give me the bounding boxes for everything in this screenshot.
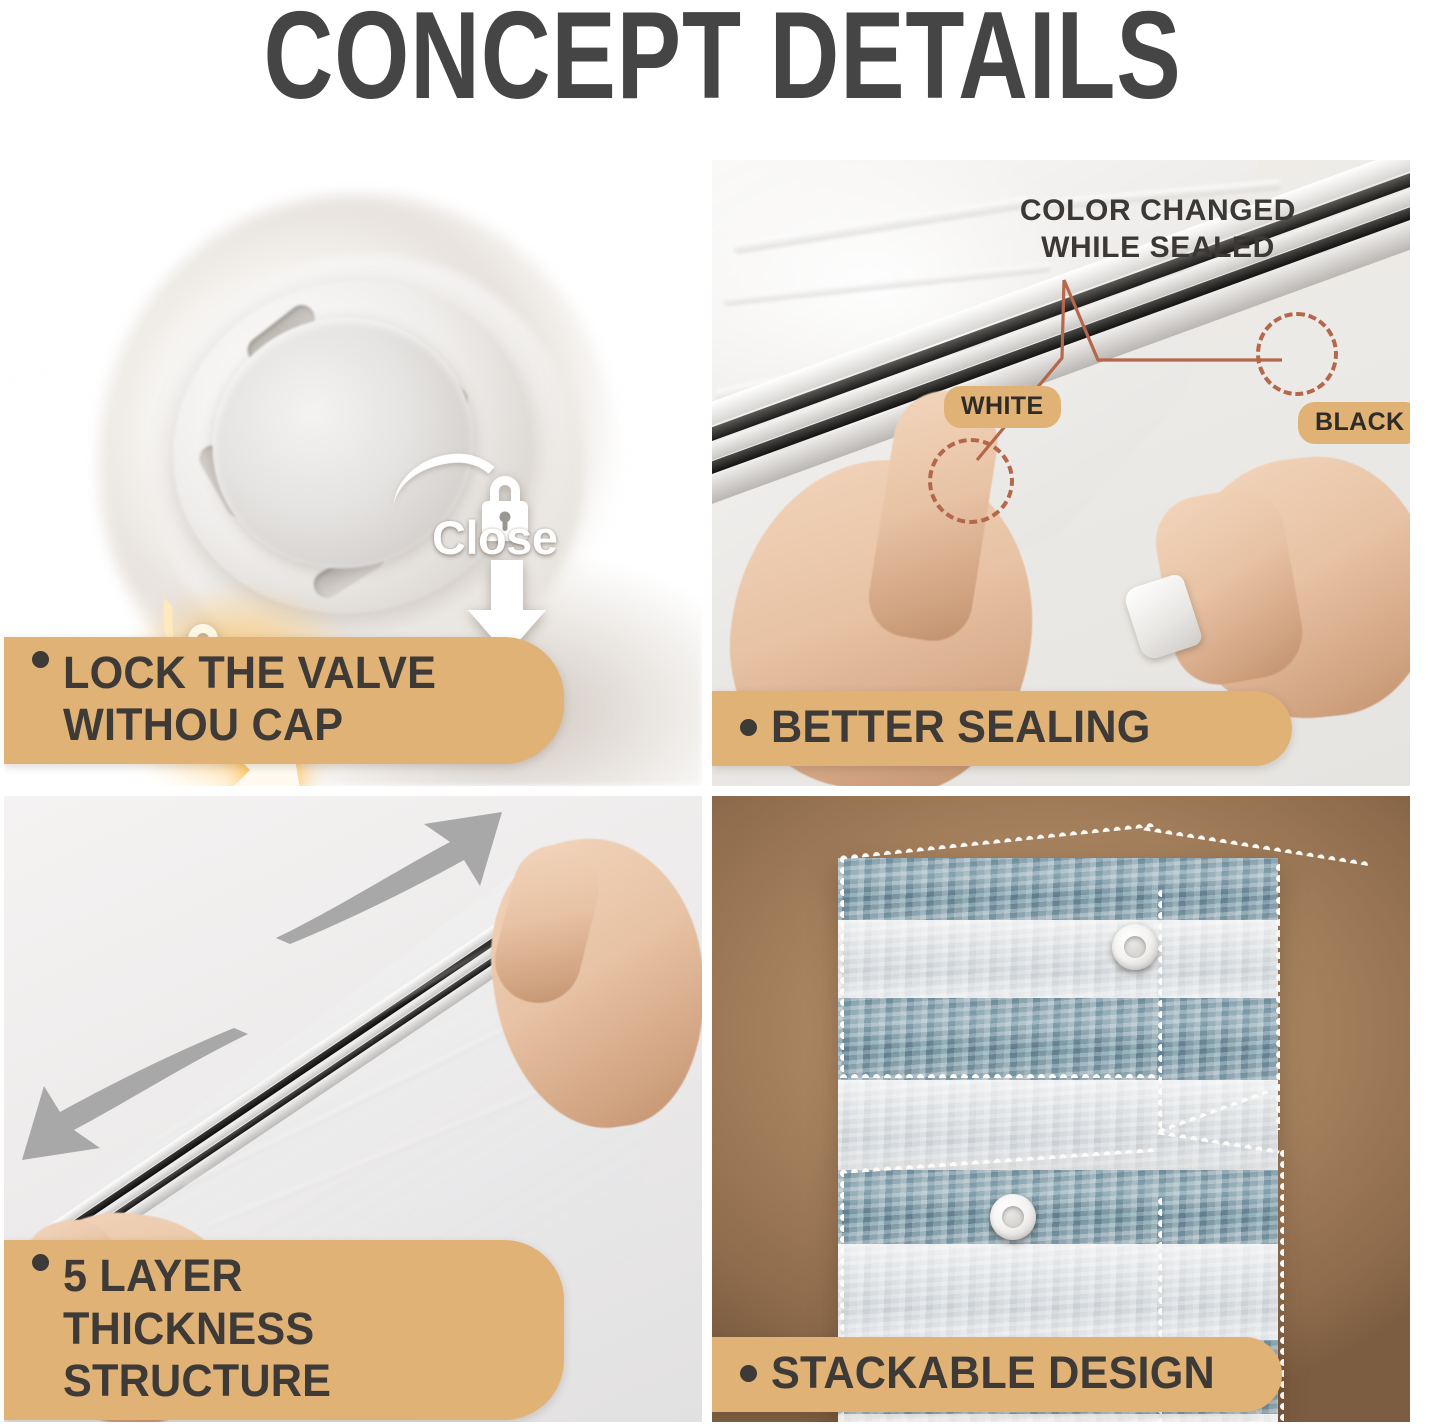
caption-text: 5 LAYER THICKNESS STRUCTURE bbox=[63, 1250, 498, 1408]
label-white: WHITE bbox=[944, 386, 1061, 428]
caption-text: BETTER SEALING bbox=[771, 701, 1151, 754]
bullet-dot bbox=[32, 651, 49, 668]
label-black: BLACK bbox=[1298, 402, 1410, 444]
content-band bbox=[838, 1244, 1278, 1340]
panel-stackable: STACKABLE DESIGN bbox=[712, 796, 1410, 1422]
arrow-down-left-icon bbox=[20, 1026, 250, 1166]
outline-edge bbox=[838, 1072, 1160, 1078]
page-title: CONCEPT DETAILS bbox=[159, 0, 1286, 124]
content-band bbox=[838, 1414, 1278, 1422]
bullet-dot bbox=[740, 1365, 757, 1382]
caption-lock-valve: LOCK THE VALVE WITHOU CAP bbox=[4, 637, 564, 764]
close-annotation: Close bbox=[434, 448, 614, 658]
content-band bbox=[838, 920, 1278, 998]
bag-valve-icon bbox=[1112, 924, 1158, 970]
outline-edge bbox=[838, 854, 844, 1076]
dashed-marker-black bbox=[1256, 312, 1338, 396]
content-band bbox=[838, 1170, 1278, 1244]
dashed-marker-white bbox=[928, 438, 1014, 524]
infographic-page: CONCEPT DETAILS bbox=[0, 0, 1445, 1426]
panel-five-layer: 5 LAYER THICKNESS STRUCTURE bbox=[4, 796, 702, 1422]
content-band bbox=[838, 858, 1278, 920]
close-label: Close bbox=[432, 510, 558, 565]
outline-edge bbox=[1274, 862, 1280, 1130]
content-band bbox=[838, 998, 1278, 1080]
outline-edge bbox=[838, 821, 1157, 860]
caption-stackable: STACKABLE DESIGN bbox=[712, 1337, 1282, 1412]
caption-text: STACKABLE DESIGN bbox=[771, 1347, 1215, 1400]
arrow-up-right-icon bbox=[274, 806, 504, 946]
outline-edge bbox=[1156, 888, 1162, 1128]
caption-five-layer: 5 LAYER THICKNESS STRUCTURE bbox=[4, 1240, 564, 1420]
bag-valve-icon bbox=[990, 1194, 1036, 1240]
bullet-dot bbox=[740, 719, 757, 736]
color-changed-note: COLOR CHANGED WHILE SEALED bbox=[978, 192, 1338, 266]
panel-grid: Close Open bbox=[4, 160, 1441, 1422]
bullet-dot bbox=[32, 1254, 49, 1271]
vacuum-bag-upper bbox=[838, 858, 1278, 1170]
caption-text: LOCK THE VALVE WITHOU CAP bbox=[63, 647, 436, 752]
panel-better-sealing: COLOR CHANGED WHILE SEALED WHITE BLACK B… bbox=[712, 160, 1410, 786]
panel-lock-valve: Close Open bbox=[4, 160, 702, 786]
caption-better-sealing: BETTER SEALING bbox=[712, 691, 1292, 766]
